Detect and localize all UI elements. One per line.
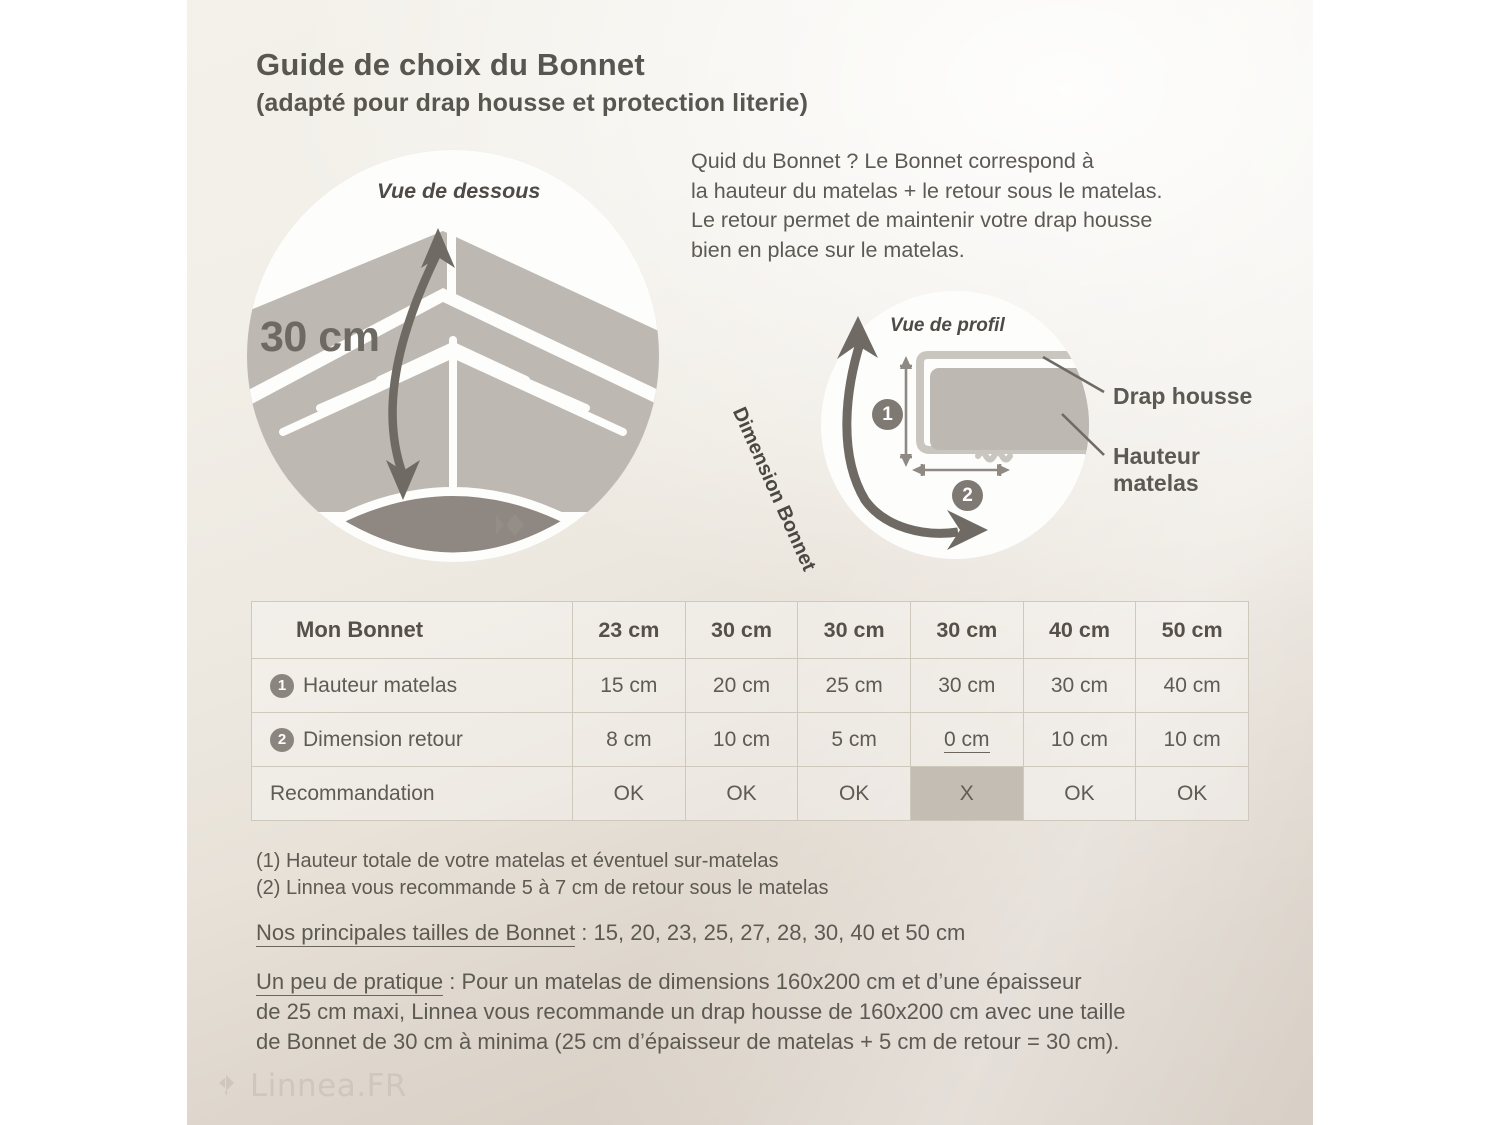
cell-return-size-4: 0 cm xyxy=(910,713,1023,767)
cell-return-size-1: 8 cm xyxy=(573,713,686,767)
table-badge-2: 2 xyxy=(270,728,294,752)
label-hauteur-line2: matelas xyxy=(1113,470,1199,496)
intro-paragraph: Quid du Bonnet ? Le Bonnet correspond à … xyxy=(691,147,1271,265)
infographic-root: Vue de dessous 30 cm xyxy=(0,0,1500,1125)
cell-mattress-height-5: 30 cm xyxy=(1023,659,1136,713)
available-sizes-values: : 15, 20, 23, 25, 27, 28, 30, 40 et 50 c… xyxy=(575,920,965,945)
practical-example-text-1: : Pour un matelas de dimensions 160x200 … xyxy=(443,969,1081,994)
cell-recommendation-2: OK xyxy=(685,767,798,821)
table-badge-1: 1 xyxy=(270,674,294,698)
table-row-header: Mon Bonnet 23 cm30 cm30 cm30 cm40 cm50 c… xyxy=(252,602,1249,659)
cell-bonnet-size-1: 23 cm xyxy=(573,602,686,659)
cell-recommendation-3: OK xyxy=(798,767,911,821)
cell-return-size-5: 10 cm xyxy=(1023,713,1136,767)
practical-example-line-2: de 25 cm maxi, Linnea vous recommande un… xyxy=(256,997,1256,1027)
table-label-dimension-retour-text: Dimension retour xyxy=(303,728,463,752)
footnotes: (1) Hauteur totale de votre matelas et é… xyxy=(256,848,1156,902)
cell-recommendation-6: OK xyxy=(1136,767,1249,821)
cell-bonnet-size-6: 50 cm xyxy=(1136,602,1249,659)
diagram-badge-1: 1 xyxy=(872,399,903,430)
intro-line-3: Le retour permet de maintenir votre drap… xyxy=(691,206,1271,236)
intro-line-1: Quid du Bonnet ? Le Bonnet correspond à xyxy=(691,147,1271,177)
diagram-badge-2: 2 xyxy=(952,480,983,511)
table-row-return-size: 2 Dimension retour 8 cm10 cm5 cm0 cm10 c… xyxy=(252,713,1249,767)
label-hauteur-line1: Hauteur xyxy=(1113,443,1200,469)
available-sizes-label: Nos principales tailles de Bonnet xyxy=(256,920,575,947)
footnote-2: (2) Linnea vous recommande 5 à 7 cm de r… xyxy=(256,875,1156,902)
cell-bonnet-size-2: 30 cm xyxy=(685,602,798,659)
table-row-recommendation: Recommandation OKOKOKXOKOK xyxy=(252,767,1249,821)
cell-mattress-height-3: 25 cm xyxy=(798,659,911,713)
cell-bonnet-size-5: 40 cm xyxy=(1023,602,1136,659)
table-header-label: Mon Bonnet xyxy=(252,602,573,659)
table-label-recommandation: Recommandation xyxy=(252,767,573,821)
intro-line-2: la hauteur du matelas + le retour sous l… xyxy=(691,177,1271,207)
cell-return-size-2: 10 cm xyxy=(685,713,798,767)
cell-recommendation-1: OK xyxy=(573,767,686,821)
available-sizes-line: Nos principales tailles de Bonnet : 15, … xyxy=(256,919,1206,946)
cell-bonnet-size-4: 30 cm xyxy=(910,602,1023,659)
table-label-hauteur-matelas-text: Hauteur matelas xyxy=(303,674,457,698)
page-title: Guide de choix du Bonnet (adapté pour dr… xyxy=(256,48,1156,117)
practical-example: Un peu de pratique : Pour un matelas de … xyxy=(256,967,1256,1057)
cell-recommendation-5: OK xyxy=(1023,767,1136,821)
cell-mattress-height-2: 20 cm xyxy=(685,659,798,713)
cell-mattress-height-6: 40 cm xyxy=(1136,659,1249,713)
practical-example-line-3: de Bonnet de 30 cm à minima (25 cm d’épa… xyxy=(256,1027,1256,1057)
label-hauteur-matelas: Hauteur matelas xyxy=(1113,443,1200,497)
cell-return-size-6: 10 cm xyxy=(1136,713,1249,767)
cell-value: 0 cm xyxy=(944,728,990,753)
bonnet-size-table: Mon Bonnet 23 cm30 cm30 cm30 cm40 cm50 c… xyxy=(251,601,1249,821)
practical-example-line-1: Un peu de pratique : Pour un matelas de … xyxy=(256,967,1256,997)
cell-return-size-3: 5 cm xyxy=(798,713,911,767)
cell-bonnet-size-3: 30 cm xyxy=(798,602,911,659)
table-label-dimension-retour: 2 Dimension retour xyxy=(252,713,573,767)
linnea-diamond-icon xyxy=(213,1072,239,1100)
label-drap-housse: Drap housse xyxy=(1113,383,1252,410)
title-main: Guide de choix du Bonnet xyxy=(256,48,1156,83)
table-row-mattress-height: 1 Hauteur matelas 15 cm20 cm25 cm30 cm30… xyxy=(252,659,1249,713)
title-subtitle: (adapté pour drap housse et protection l… xyxy=(256,89,1156,118)
linnea-logo[interactable]: Linnea.FR xyxy=(213,1068,407,1104)
cell-mattress-height-4: 30 cm xyxy=(910,659,1023,713)
profile-view-caption: Vue de profil xyxy=(890,315,1005,337)
footnote-1: (1) Hauteur totale de votre matelas et é… xyxy=(256,848,1156,875)
linnea-logo-text: Linnea.FR xyxy=(250,1068,407,1104)
intro-line-4: bien en place sur le matelas. xyxy=(691,236,1271,266)
cell-recommendation-4: X xyxy=(910,767,1023,821)
table-label-hauteur-matelas: 1 Hauteur matelas xyxy=(252,659,573,713)
practical-example-label: Un peu de pratique xyxy=(256,969,443,996)
cell-mattress-height-1: 15 cm xyxy=(573,659,686,713)
